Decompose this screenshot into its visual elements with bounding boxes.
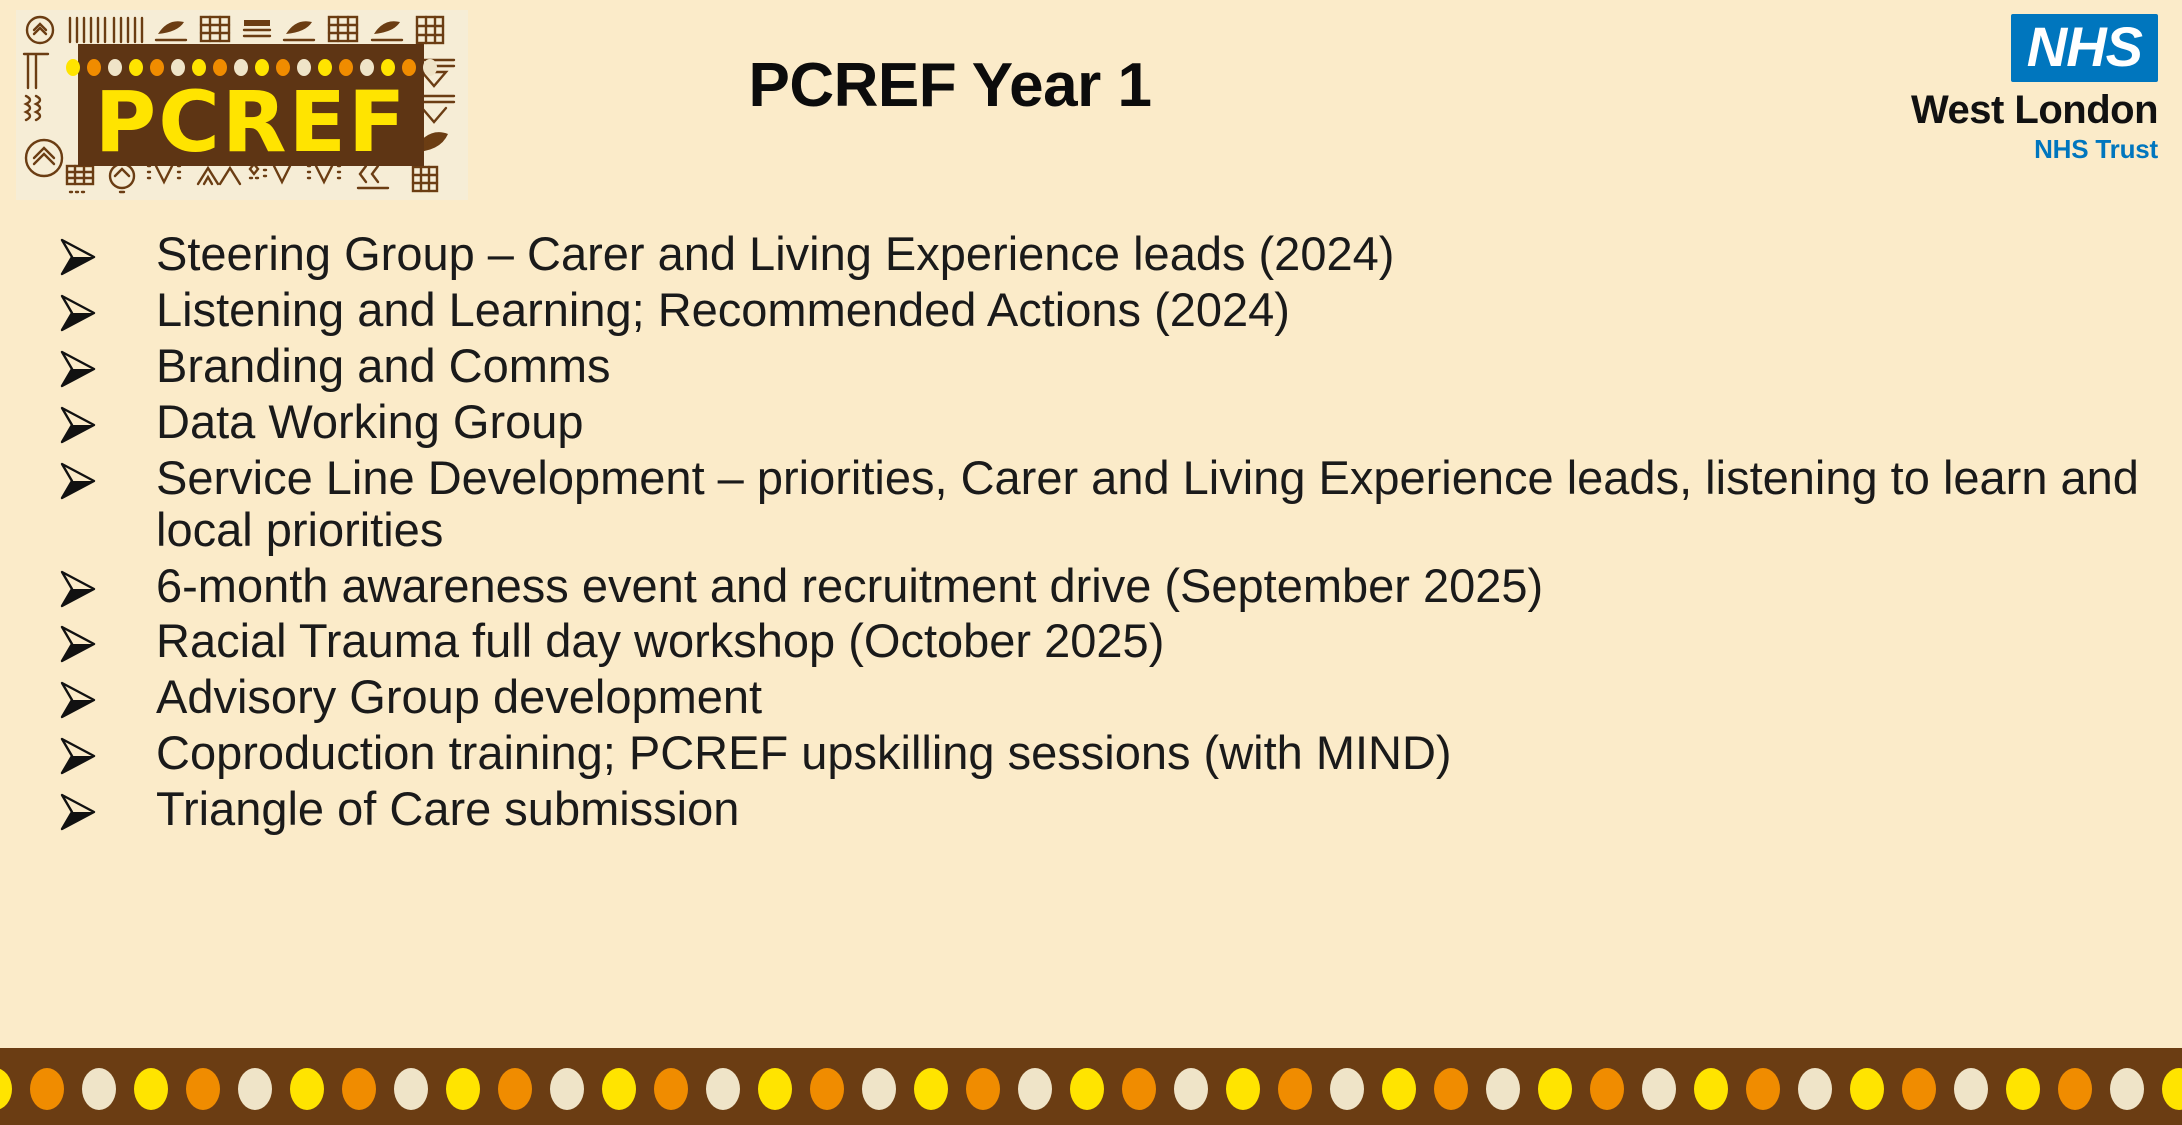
arrowhead-bullet-icon — [40, 560, 156, 608]
list-item: Coproduction training; PCREF upskilling … — [40, 727, 2150, 779]
footer-dot — [1486, 1068, 1520, 1110]
footer-dot — [1538, 1068, 1572, 1110]
list-item: Advisory Group development — [40, 671, 2150, 723]
list-item-label: Coproduction training; PCREF upskilling … — [156, 727, 2150, 779]
nhs-blue-box: NHS — [2011, 14, 2158, 82]
footer-dot — [2006, 1068, 2040, 1110]
slide-canvas: PCREF PCREF Year 1 NHS West London NHS T… — [0, 0, 2182, 1125]
list-item-label: Service Line Development – priorities, C… — [156, 452, 2150, 556]
arrowhead-bullet-icon — [40, 396, 156, 444]
arrowhead-bullet-icon — [40, 452, 156, 500]
footer-dot — [1226, 1068, 1260, 1110]
nhs-wordmark: NHS — [2027, 19, 2142, 75]
footer-dot — [1018, 1068, 1052, 1110]
list-item: Triangle of Care submission — [40, 783, 2150, 835]
footer-dot — [1070, 1068, 1104, 1110]
footer-dot — [134, 1068, 168, 1110]
list-item-label: 6-month awareness event and recruitment … — [156, 560, 2150, 612]
footer-dot — [1330, 1068, 1364, 1110]
footer-dot — [446, 1068, 480, 1110]
footer-dot — [1642, 1068, 1676, 1110]
footer-dot — [186, 1068, 220, 1110]
footer-dot — [30, 1068, 64, 1110]
footer-dot — [0, 1068, 12, 1110]
nhs-trust-subtitle: NHS Trust — [1816, 135, 2158, 164]
footer-dot — [342, 1068, 376, 1110]
footer-dot — [82, 1068, 116, 1110]
arrowhead-bullet-icon — [40, 615, 156, 663]
nhs-west-london-logo: NHS West London NHS Trust — [1816, 14, 2158, 163]
footer-dot-row — [0, 1068, 2182, 1110]
footer-dot — [1590, 1068, 1624, 1110]
footer-dot — [1850, 1068, 1884, 1110]
list-item: Racial Trauma full day workshop (October… — [40, 615, 2150, 667]
arrowhead-bullet-icon — [40, 727, 156, 775]
pcref-logo: PCREF — [16, 10, 468, 200]
footer-dot — [1174, 1068, 1208, 1110]
list-item-label: Data Working Group — [156, 396, 2150, 448]
footer-dot — [2058, 1068, 2092, 1110]
footer-dot — [1434, 1068, 1468, 1110]
footer-dot — [2162, 1068, 2182, 1110]
list-item-label: Branding and Comms — [156, 340, 2150, 392]
footer-dot — [1798, 1068, 1832, 1110]
footer-dot — [2110, 1068, 2144, 1110]
list-item-label: Racial Trauma full day workshop (October… — [156, 615, 2150, 667]
list-item: Steering Group – Carer and Living Experi… — [40, 228, 2150, 280]
footer-dot — [758, 1068, 792, 1110]
arrowhead-bullet-icon — [40, 671, 156, 719]
footer-dot — [1954, 1068, 1988, 1110]
footer-dot — [1902, 1068, 1936, 1110]
arrowhead-bullet-icon — [40, 340, 156, 388]
achievements-bullet-list: Steering Group – Carer and Living Experi… — [40, 228, 2150, 839]
footer-dot — [914, 1068, 948, 1110]
list-item: Branding and Comms — [40, 340, 2150, 392]
footer-dot — [1122, 1068, 1156, 1110]
list-item-label: Steering Group – Carer and Living Experi… — [156, 228, 2150, 280]
footer-dot — [238, 1068, 272, 1110]
list-item: Listening and Learning; Recommended Acti… — [40, 284, 2150, 336]
list-item-label: Advisory Group development — [156, 671, 2150, 723]
page-title: PCREF Year 1 — [520, 52, 1380, 120]
footer-dot — [394, 1068, 428, 1110]
nhs-trust-name: West London — [1816, 88, 2158, 133]
footer-dot — [1746, 1068, 1780, 1110]
footer-dot — [706, 1068, 740, 1110]
footer-dot — [862, 1068, 896, 1110]
footer-dot — [550, 1068, 584, 1110]
footer-dot — [654, 1068, 688, 1110]
arrowhead-bullet-icon — [40, 783, 156, 831]
list-item: 6-month awareness event and recruitment … — [40, 560, 2150, 612]
footer-dot — [1382, 1068, 1416, 1110]
list-item: Data Working Group — [40, 396, 2150, 448]
decorative-footer-bar — [0, 1048, 2182, 1125]
list-item-label: Listening and Learning; Recommended Acti… — [156, 284, 2150, 336]
footer-dot — [290, 1068, 324, 1110]
arrowhead-bullet-icon — [40, 284, 156, 332]
footer-dot — [966, 1068, 1000, 1110]
arrowhead-bullet-icon — [40, 228, 156, 276]
footer-dot — [810, 1068, 844, 1110]
footer-dot — [1278, 1068, 1312, 1110]
pcref-wordmark: PCREF — [95, 80, 408, 164]
footer-dot — [498, 1068, 532, 1110]
footer-dot — [602, 1068, 636, 1110]
footer-dot — [1694, 1068, 1728, 1110]
pcref-logo-panel: PCREF — [78, 44, 424, 166]
list-item-label: Triangle of Care submission — [156, 783, 2150, 835]
list-item: Service Line Development – priorities, C… — [40, 452, 2150, 556]
